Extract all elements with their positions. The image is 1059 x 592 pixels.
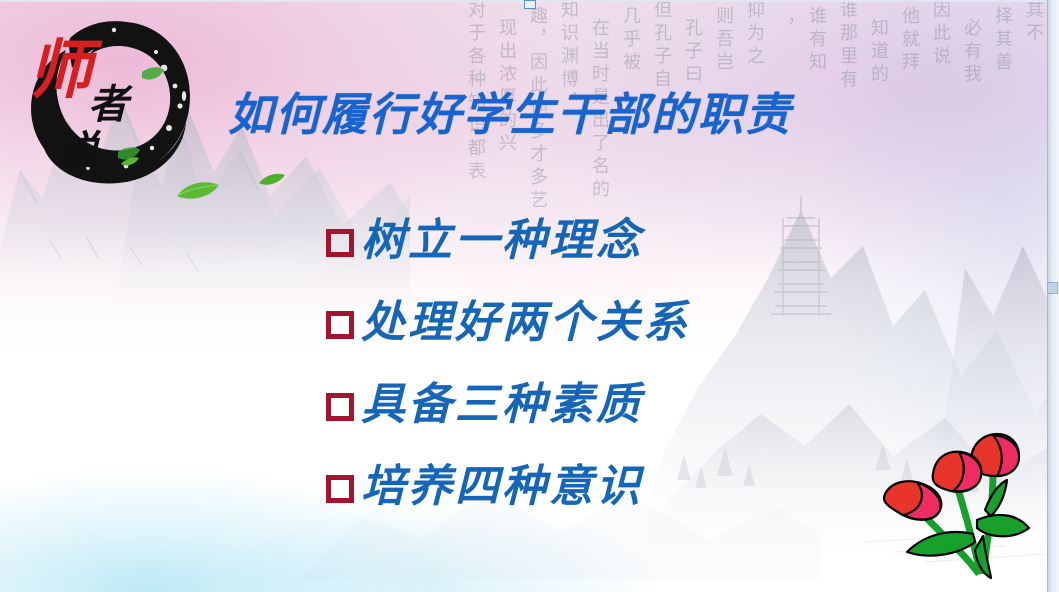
hollow-square-bullet-icon <box>326 393 354 421</box>
list-item-label: 培养四种意识 <box>361 465 643 509</box>
list-item-label: 处理好两个关系 <box>361 301 690 345</box>
logo-shizheshuo: 师 者 说 <box>14 8 200 186</box>
presentation-slide: 其不择其善必有我因此说他就拜知道的谁那里有谁有知，抑为之则吾岂孔子曰但孔子自几乎… <box>0 0 1059 592</box>
tulip-flowers-decoration <box>873 424 1035 582</box>
list-item-label: 具备三种素质 <box>361 383 643 427</box>
list-item[interactable]: 树立一种理念 <box>326 200 886 282</box>
logo-char-zhe: 者 <box>88 81 133 128</box>
slide-title: 如何履行好学生干部的职责 <box>228 78 792 143</box>
list-item[interactable]: 具备三种素质 <box>326 364 886 446</box>
logo-char-shuo: 说 <box>58 127 102 174</box>
selection-handle[interactable] <box>524 0 536 9</box>
list-item[interactable]: 处理好两个关系 <box>326 282 886 364</box>
scrollbar-thumb[interactable] <box>1047 282 1058 294</box>
bullet-list: 树立一种理念 处理好两个关系 具备三种素质 培养四种意识 <box>326 200 886 528</box>
hollow-square-bullet-icon <box>326 475 354 503</box>
hollow-square-bullet-icon <box>326 311 354 339</box>
leaf-icon <box>258 172 286 187</box>
vertical-scrollbar[interactable] <box>1047 0 1059 592</box>
list-item-label: 树立一种理念 <box>361 219 643 263</box>
list-item[interactable]: 培养四种意识 <box>326 446 886 528</box>
hollow-square-bullet-icon <box>326 229 354 257</box>
